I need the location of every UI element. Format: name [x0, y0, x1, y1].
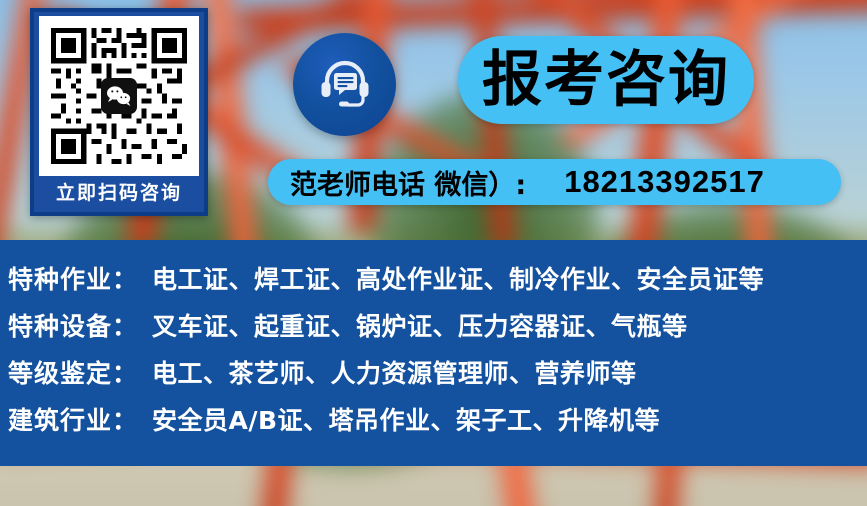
info-row: 特种设备： 叉车证、起重证、锅炉证、压力容器证、气瓶等 — [0, 301, 867, 348]
info-row-label: 特种作业： — [8, 260, 138, 296]
info-row: 特种作业： 电工证、焊工证、高处作业证、制冷作业、安全员证等 — [0, 254, 867, 301]
qr-code-image[interactable] — [39, 16, 199, 176]
services-info-panel: 特种作业： 电工证、焊工证、高处作业证、制冷作业、安全员证等 特种设备： 叉车证… — [0, 240, 867, 466]
phone-number[interactable]: 18213392517 — [564, 164, 765, 200]
qr-caption: 立即扫码咨询 — [34, 176, 204, 210]
info-row-label: 特种设备： — [8, 307, 138, 343]
info-row-label: 等级鉴定： — [8, 354, 138, 390]
phone-badge[interactable]: 范老师电话 微信）: 18213392517 — [268, 159, 841, 205]
info-row: 建筑行业： 安全员A/B证、塔吊作业、架子工、升降机等 — [0, 395, 867, 442]
wechat-icon — [101, 78, 137, 114]
info-row-value: 安全员A/B证、塔吊作业、架子工、升降机等 — [152, 401, 660, 437]
info-row-label: 建筑行业： — [8, 401, 138, 437]
headset-support-icon — [293, 33, 396, 136]
info-row-value: 电工证、焊工证、高处作业证、制冷作业、安全员证等 — [152, 260, 764, 296]
title-badge: 报考咨询 — [458, 36, 754, 124]
promo-poster: 立即扫码咨询 报考咨询 范老师电话 微信）: 18213392517 特种作业：… — [0, 0, 867, 506]
phone-label: 范老师电话 微信）: — [290, 163, 526, 202]
qr-code-card[interactable]: 立即扫码咨询 — [30, 8, 208, 216]
info-row: 等级鉴定： 电工、茶艺师、人力资源管理师、营养师等 — [0, 348, 867, 395]
info-row-value: 叉车证、起重证、锅炉证、压力容器证、气瓶等 — [152, 307, 688, 343]
info-row-value: 电工、茶艺师、人力资源管理师、营养师等 — [152, 354, 637, 390]
title-badge-text: 报考咨询 — [482, 50, 730, 110]
